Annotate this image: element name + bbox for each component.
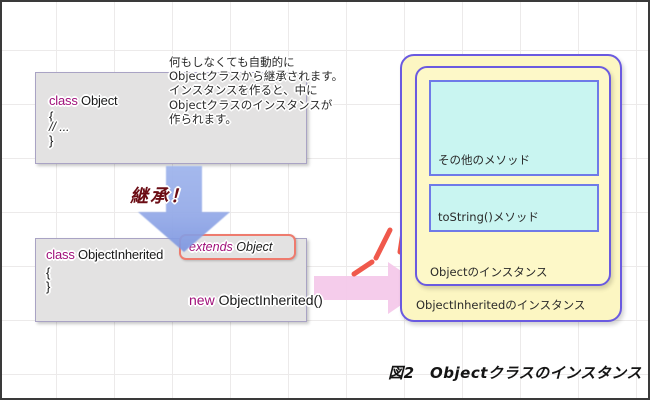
method-box-other: その他のメソッド	[429, 80, 599, 176]
instance-box-object-inherited-label: ObjectInheritedのインスタンス	[416, 297, 585, 313]
inheritance-arrow-icon	[136, 166, 232, 252]
figure-canvas: class Object { // ... } 何もしなくても自動的に Obje…	[0, 0, 650, 400]
code-line-class-object: class Object	[49, 93, 117, 108]
inheritance-arrow-label: 継承！	[130, 182, 190, 208]
keyword-class: class	[49, 93, 78, 108]
method-box-tostring-label: toString()メソッド	[438, 209, 539, 225]
new-expression-target: ObjectInherited()	[215, 292, 323, 308]
instance-box-object-inherited: その他のメソッド toString()メソッド Objectのインスタンス Ob…	[400, 54, 622, 322]
class-name-object: Object	[78, 93, 118, 108]
code-line-close-brace: }	[49, 133, 53, 148]
keyword-class: class	[46, 247, 75, 262]
instance-box-object-label: Objectのインスタンス	[430, 264, 548, 280]
annotation-note: 何もしなくても自動的に Objectクラスから継承されます。 インスタンスを作る…	[169, 55, 343, 126]
code-line-close-brace: }	[46, 279, 50, 294]
new-expression: new ObjectInherited()	[189, 292, 323, 308]
code-line-comment: // ...	[49, 119, 69, 134]
code-line-open-brace: {	[46, 265, 50, 280]
keyword-new: new	[189, 292, 215, 308]
method-box-other-label: その他のメソッド	[438, 152, 530, 168]
instance-box-object: その他のメソッド toString()メソッド Objectのインスタンス	[415, 66, 611, 286]
figure-caption: 図2 Objectクラスのインスタンス	[2, 362, 642, 383]
superclass-name: Object	[236, 240, 272, 254]
method-box-tostring: toString()メソッド	[429, 184, 599, 232]
